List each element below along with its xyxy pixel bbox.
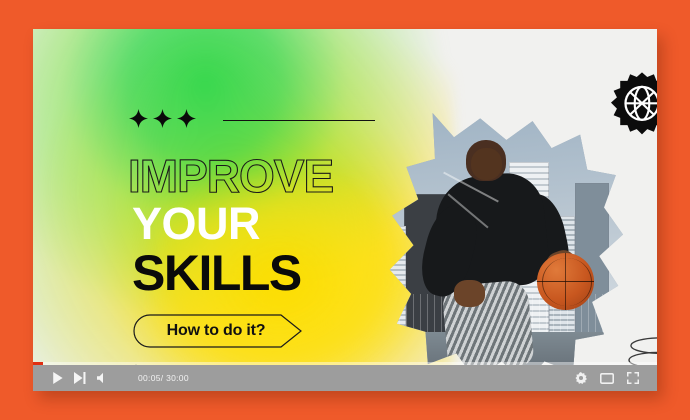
- hero-photo: [385, 113, 623, 383]
- how-to-do-it-button[interactable]: How to do it?: [133, 314, 309, 348]
- time-display: 00:05/ 30:00: [138, 373, 189, 383]
- next-icon[interactable]: [74, 372, 86, 384]
- globe-icon: [609, 71, 657, 137]
- player-hand-left: [454, 280, 485, 307]
- hero-photo-clip: [385, 113, 623, 383]
- brand-badge[interactable]: [609, 71, 657, 137]
- headline-line-1: IMPROVE: [128, 154, 428, 199]
- fullscreen-icon[interactable]: [627, 372, 639, 384]
- headline-group: IMPROVE YOUR SKILLS: [128, 154, 428, 298]
- video-player[interactable]: IMPROVE YOUR SKILLS How to do it?: [33, 29, 657, 391]
- decoration-divider-line: [223, 120, 375, 121]
- decoration-stars-top: [129, 109, 196, 128]
- mute-icon[interactable]: [97, 372, 109, 384]
- star-filled-icon: [177, 109, 196, 128]
- play-icon[interactable]: [52, 372, 63, 384]
- progress-bar[interactable]: [33, 362, 657, 365]
- gear-icon[interactable]: [575, 372, 587, 384]
- star-filled-icon: [129, 109, 148, 128]
- player-face: [471, 148, 502, 180]
- controls-right-group: [575, 372, 657, 384]
- player-controls-bar[interactable]: 00:05/ 30:00: [33, 365, 657, 391]
- star-filled-icon: [153, 109, 172, 128]
- how-to-do-it-label: How to do it?: [167, 322, 280, 340]
- progress-bar-fill: [33, 362, 43, 365]
- controls-left-group: 00:05/ 30:00: [33, 372, 189, 384]
- screenshot-root: IMPROVE YOUR SKILLS How to do it?: [0, 0, 690, 420]
- headline-line-3: SKILLS: [132, 248, 428, 298]
- headline-line-2: YOUR: [132, 201, 428, 246]
- miniplayer-icon[interactable]: [600, 373, 614, 384]
